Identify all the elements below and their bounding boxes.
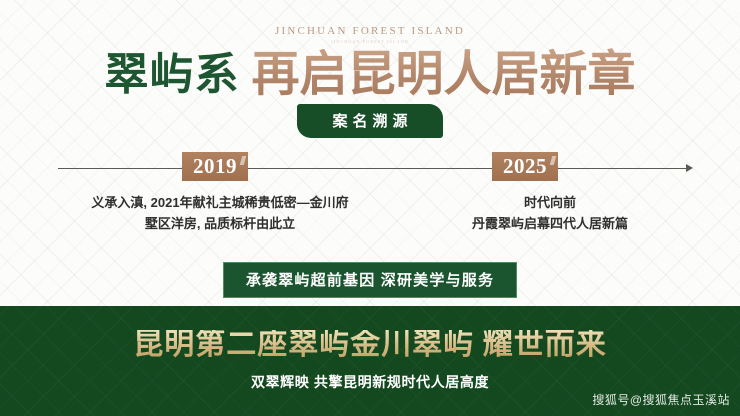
section-badge-container: 案名溯源 [0, 104, 740, 138]
timeline-event-2025-line2: 丹霞翠屿启幕四代人居新篇 [390, 213, 710, 234]
brand-logo: JINCHUAN FOREST ISLAND JINCHUAN FOREST I… [0, 26, 740, 44]
year-tick-icon [550, 156, 557, 165]
timeline-event-2025: 时代向前 丹霞翠屿启幕四代人居新篇 [390, 192, 710, 235]
bottom-band: 昆明第二座翠屿金川翠屿 耀世而来 双翠辉映 共擎昆明新规时代人居高度 搜狐号@搜… [0, 306, 740, 416]
watermark: 搜狐号@搜狐焦点玉溪站 [592, 391, 730, 408]
brand-subline: JINCHUAN FOREST ISLAND [0, 40, 740, 44]
timeline-node-2019: 2019 [160, 152, 270, 181]
year-chip-2019-label: 2019 [193, 154, 237, 178]
year-chip-2025-label: 2025 [503, 154, 547, 178]
section-badge: 案名溯源 [297, 104, 442, 138]
brand-name: JINCHUAN FOREST ISLAND [0, 26, 740, 37]
timeline-event-2019: 义承入滇, 2021年献礼主城稀贵低密—金川府 墅区洋房, 品质标杆由此立 [0, 192, 440, 235]
page-title: 翠屿系再启昆明人居新章 [0, 51, 740, 99]
poster-root: JINCHUAN FOREST ISLAND JINCHUAN FOREST I… [0, 0, 740, 416]
timeline-arrow-icon [686, 164, 693, 172]
timeline-node-2025: 2025 [470, 152, 580, 181]
timeline-event-2019-line1: 义承入滇, 2021年献礼主城稀贵低密—金川府 [0, 192, 440, 213]
timeline-event-2025-line1: 时代向前 [390, 192, 710, 213]
bottom-band-title: 昆明第二座翠屿金川翠屿 耀世而来 [0, 330, 740, 360]
timeline-axis [58, 168, 690, 169]
year-chip-2025: 2025 [492, 152, 558, 181]
timeline-event-2019-line2: 墅区洋房, 品质标杆由此立 [0, 213, 440, 234]
mid-banner: 承袭翠屿超前基因 深研美学与服务 [223, 262, 517, 298]
mid-banner-container: 承袭翠屿超前基因 深研美学与服务 [0, 262, 740, 298]
headline-main-phrase: 再启昆明人居新章 [251, 48, 635, 101]
year-tick-icon [240, 156, 247, 165]
headline-series-name: 翠屿系 [104, 50, 239, 99]
year-chip-2019: 2019 [182, 152, 248, 181]
bottom-band-subtitle: 双翠辉映 共擎昆明新规时代人居高度 [0, 372, 740, 392]
